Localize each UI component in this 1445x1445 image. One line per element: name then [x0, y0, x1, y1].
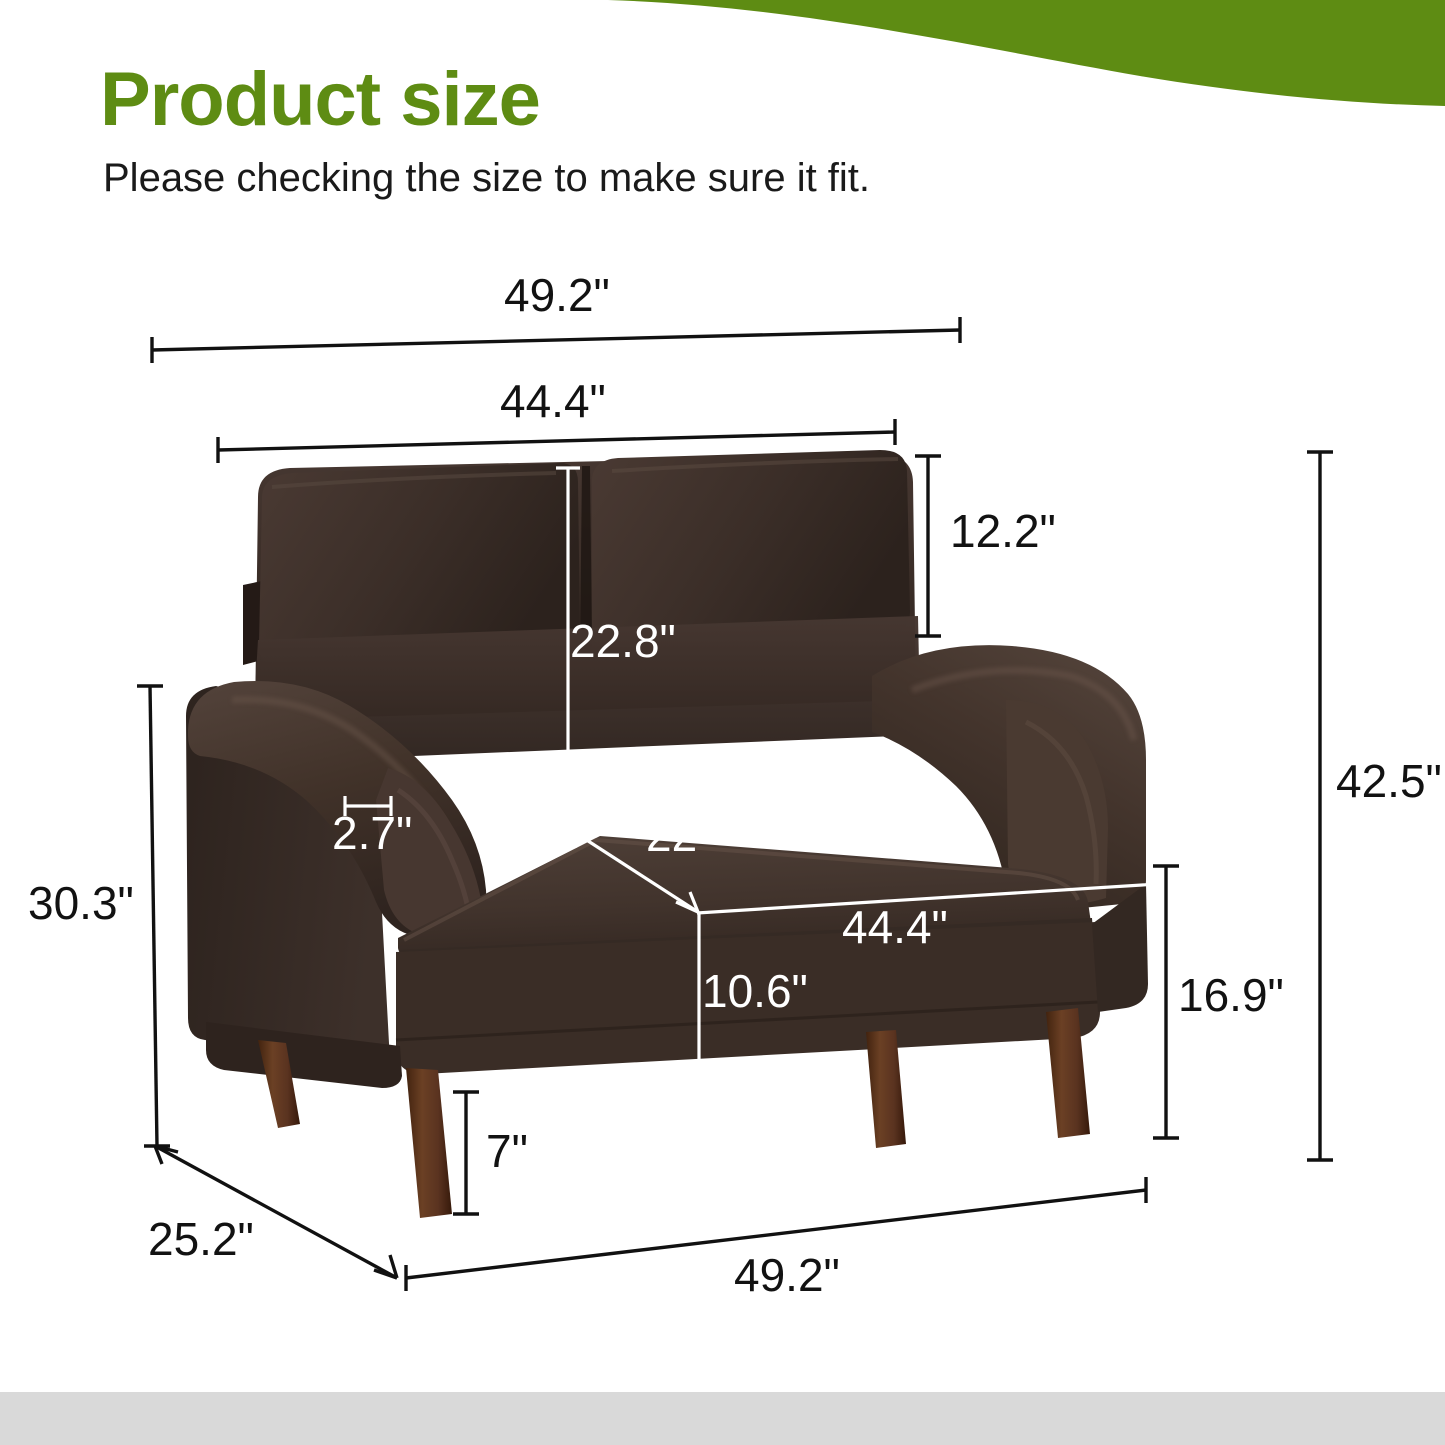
dim-label-arm-height: 30.3"	[28, 880, 134, 926]
dim-label-seat-depth: 22"	[646, 812, 714, 858]
dim-label-seat-thickness: 10.6"	[702, 968, 808, 1014]
dim-label-leg-height: 7"	[486, 1128, 528, 1174]
dim-label-seat-width: 44.4"	[842, 904, 948, 950]
dim-label-arm-width: 2.7"	[332, 810, 412, 856]
dim-label-seat-height: 16.9"	[1178, 972, 1284, 1018]
dim-label-back-width: 44.4"	[500, 378, 606, 424]
dim-label-overall-width-bottom: 49.2"	[734, 1252, 840, 1298]
dim-label-back-cushion-height: 12.2"	[950, 508, 1056, 554]
dim-label-seat-back-height: 22.8"	[570, 618, 676, 664]
product-size-infographic: Product size Please checking the size to…	[0, 0, 1445, 1445]
dim-label-overall-width-top: 49.2"	[504, 272, 610, 318]
footer-band	[0, 1392, 1445, 1445]
dim-label-overall-height: 42.5"	[1336, 758, 1442, 804]
dim-label-overall-depth: 25.2"	[148, 1216, 254, 1262]
